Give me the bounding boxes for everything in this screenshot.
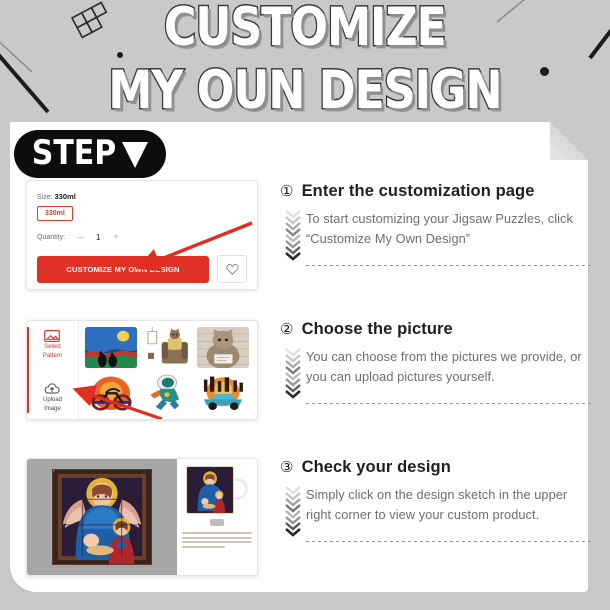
step-1-divider	[306, 265, 594, 266]
quantity-label: Quantity:	[37, 234, 65, 241]
step-2-divider	[306, 403, 594, 404]
step-3-screenshot-row	[26, 458, 258, 576]
upload-cloud-icon	[44, 382, 60, 396]
chevron-down-icon	[285, 252, 301, 261]
step-3-heading: ③ Check your design	[280, 458, 595, 477]
chevron-column-1	[280, 209, 306, 258]
step-3-text-block: ③ Check your design Simply click on the …	[280, 458, 595, 542]
heart-icon	[226, 263, 239, 275]
step-1-screenshot-row: Size: 330ml 330ml Quantity: – 1 + CUSTOM…	[26, 180, 258, 290]
step-2-body-text: You can choose from the pictures we prov…	[306, 347, 595, 396]
chevron-column-2	[280, 347, 306, 396]
step-3-divider	[306, 541, 594, 542]
product-description-placeholder	[182, 532, 252, 550]
cat-in-armchair-thumbnail[interactable]	[141, 327, 193, 368]
select-pattern-label-line1: Select	[44, 344, 61, 352]
product-action-row: CUSTOMIZE MY OWN DESIGN	[37, 255, 247, 283]
customize-my-own-design-button[interactable]: CUSTOMIZE MY OWN DESIGN	[37, 256, 209, 283]
step-2-text-block: ② Choose the picture You can choose from…	[280, 320, 595, 404]
page-title-line-1: CUSTOMIZE	[164, 0, 446, 58]
size-value: 330ml	[55, 192, 76, 201]
step-2-screenshot-row: Select Pattern Upload Image	[26, 320, 258, 420]
step-1-heading-text: Enter the customization page	[302, 182, 535, 201]
sidebar-item-upload-image[interactable]: Upload Image	[43, 382, 62, 413]
step-1-number: ①	[280, 184, 294, 199]
size-label: Size: 330ml	[37, 192, 247, 201]
quantity-decrease-button[interactable]: –	[75, 232, 86, 243]
mug-body	[186, 466, 234, 514]
astronaut-thumbnail[interactable]	[141, 372, 193, 413]
step-1-text-block: ① Enter the customization page To start …	[280, 182, 595, 266]
size-option-chip[interactable]: 330ml	[37, 206, 73, 221]
step-1-body-text: To start customizing your Jigsaw Puzzles…	[306, 209, 595, 258]
step-badge-label: STEP	[32, 137, 117, 171]
canvas-handle-right[interactable]	[149, 469, 152, 472]
product-page-screenshot[interactable]: Size: 330ml 330ml Quantity: – 1 + CUSTOM…	[26, 180, 258, 290]
stained-glass-madonna-artwork	[52, 469, 152, 565]
step-3-body-text: Simply click on the design sketch in the…	[306, 485, 595, 534]
page-title-line-2: MY OUN DESIGN	[108, 62, 501, 122]
step-3-number: ③	[280, 460, 294, 475]
quantity-increase-button[interactable]: +	[110, 232, 121, 243]
page-header: CUSTOMIZE MY OUN DESIGN	[0, 0, 610, 122]
select-pattern-label-line2: Pattern	[43, 353, 62, 361]
triangle-down-icon	[122, 142, 148, 168]
motorcycle-sunset-thumbnail[interactable]	[85, 372, 137, 413]
pattern-thumbnail-grid	[79, 321, 257, 419]
card-corner-fold	[550, 122, 588, 160]
step-2-heading-text: Choose the picture	[302, 320, 453, 339]
step-1-heading: ① Enter the customization page	[280, 182, 595, 201]
starry-night-cats-thumbnail[interactable]	[85, 327, 137, 368]
design-editor-screenshot[interactable]	[26, 458, 258, 576]
upload-image-label-line2: Image	[44, 406, 61, 414]
sidebar-item-select-pattern[interactable]: Select Pattern	[43, 329, 62, 360]
step-3-heading-text: Check your design	[302, 458, 451, 477]
chevron-down-icon	[285, 528, 301, 537]
pattern-picker-screenshot[interactable]: Select Pattern Upload Image	[26, 320, 258, 420]
quantity-stepper: Quantity: – 1 +	[37, 232, 247, 243]
cat-holding-sign-thumbnail[interactable]	[197, 327, 249, 368]
white-coffee-mug-preview[interactable]	[186, 466, 248, 514]
product-preview-panel	[177, 459, 257, 575]
image-pattern-icon	[44, 329, 60, 343]
upload-image-label-line1: Upload	[43, 397, 62, 405]
editor-canvas[interactable]	[27, 459, 177, 575]
preview-color-swatch[interactable]	[210, 519, 224, 526]
step-badge: STEP	[14, 130, 166, 178]
chevron-down-icon	[285, 390, 301, 399]
step-2-number: ②	[280, 322, 294, 337]
wishlist-button[interactable]	[217, 255, 247, 283]
pattern-source-sidebar: Select Pattern Upload Image	[27, 321, 79, 419]
chevron-column-3	[280, 485, 306, 534]
step-2-heading: ② Choose the picture	[280, 320, 595, 339]
classic-car-sunset-thumbnail[interactable]	[197, 372, 249, 413]
quantity-value: 1	[96, 233, 100, 242]
